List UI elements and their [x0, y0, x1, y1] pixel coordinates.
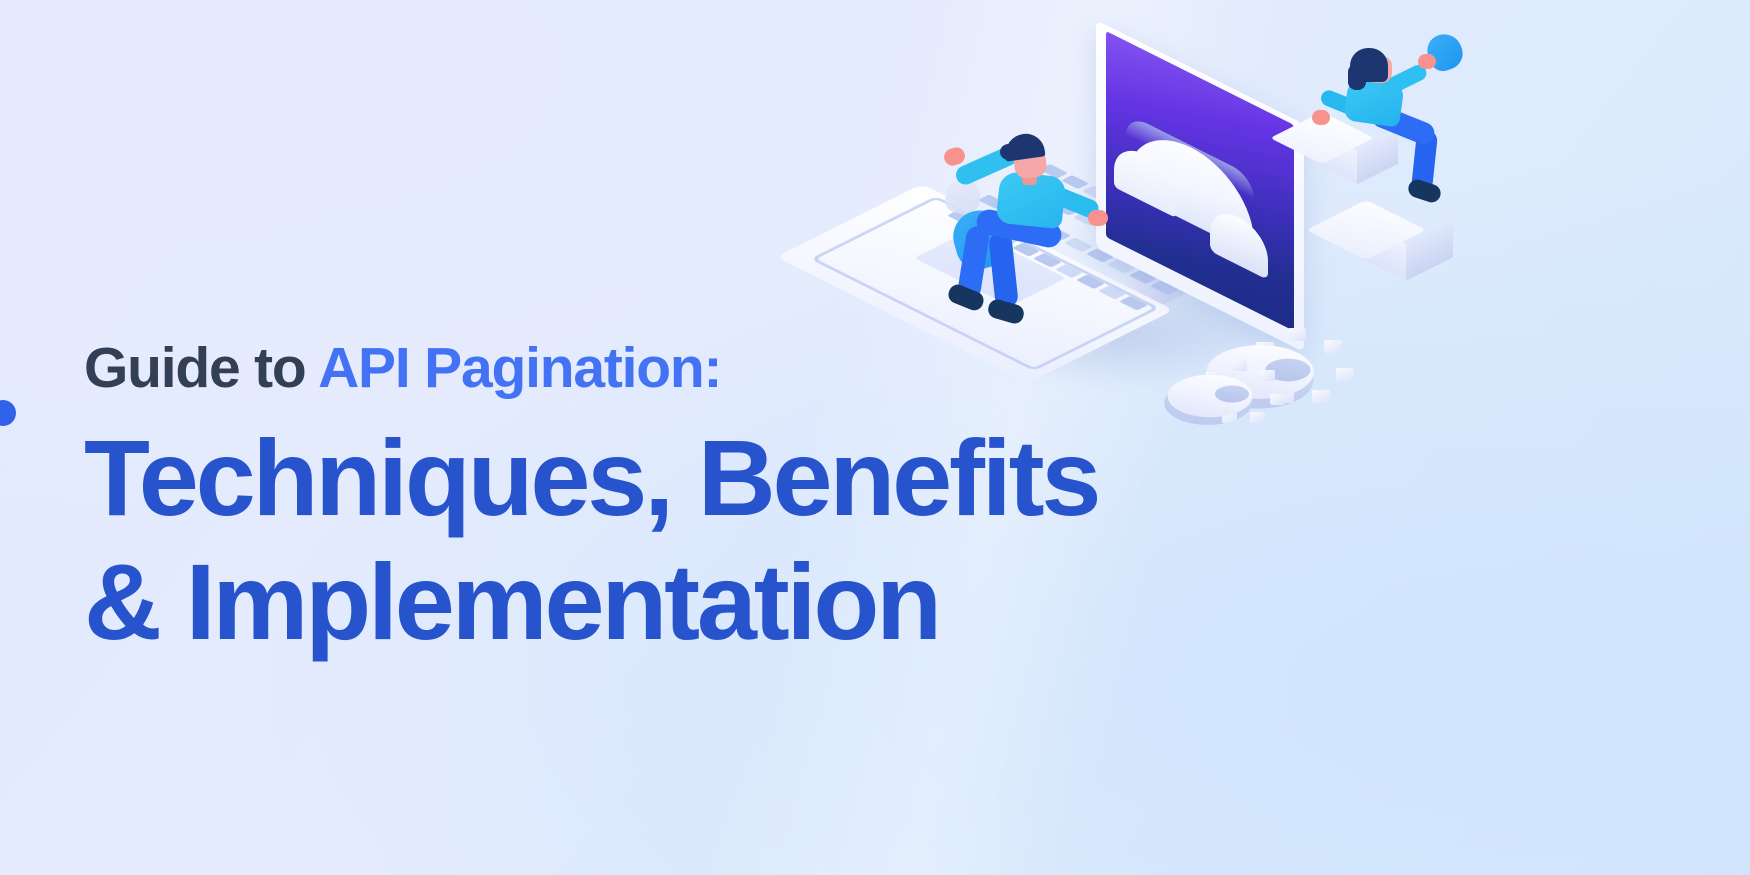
woman-right-hand [1418, 54, 1436, 69]
man-far-leg [988, 231, 1019, 309]
woman-hair [1350, 48, 1388, 82]
eyebrow-accent: API Pagination: [318, 336, 721, 400]
gear-small-icon [1200, 352, 1286, 432]
character-woman [1304, 30, 1484, 210]
eyebrow-prefix: Guide to [84, 336, 318, 400]
small-floating-cube [1352, 196, 1462, 288]
woman-left-hand [1312, 110, 1330, 125]
headline-line-2: & Implementation [84, 540, 1414, 663]
character-man [918, 112, 1098, 322]
man-far-shoe [986, 297, 1026, 325]
man-right-hand [1088, 210, 1108, 226]
decorative-dot-small [0, 400, 16, 426]
page-title: Techniques, Benefits & Implementation [84, 416, 1414, 662]
hero-illustration [900, 0, 1520, 440]
article-hero-banner: Guide to API Pagination: Techniques, Ben… [0, 0, 1750, 875]
